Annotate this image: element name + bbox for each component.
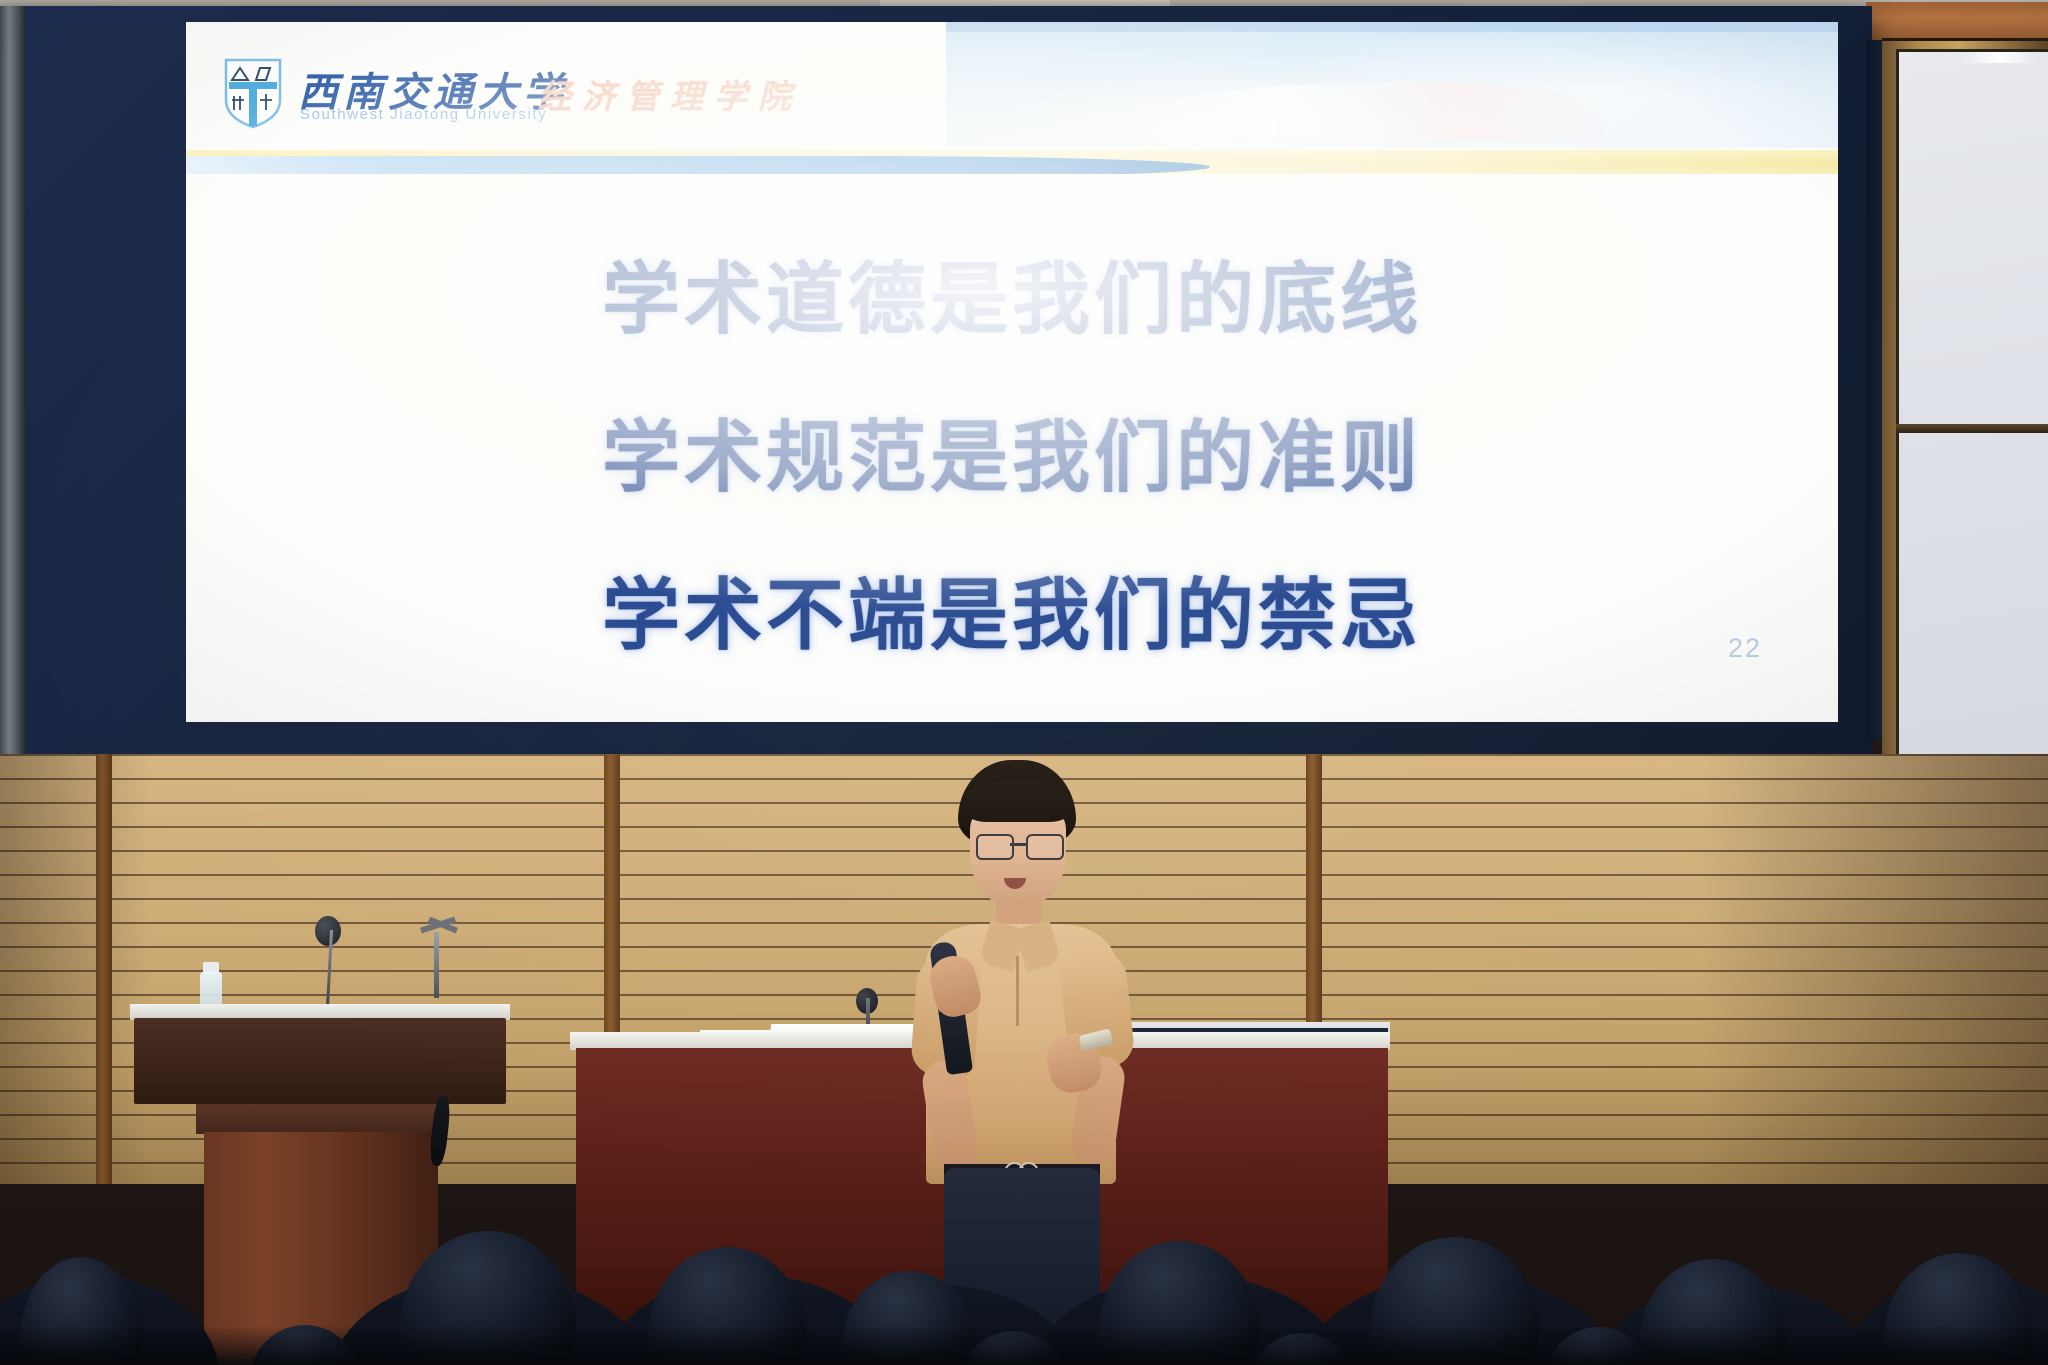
slat-wall-left-shadow (0, 754, 150, 1184)
slat-wall-right-shadow (1700, 754, 2048, 1184)
whiteboard-frame (1882, 38, 2048, 783)
slide-header-band: 西南交通大学 Southwest Jiaotong University 经济管… (186, 22, 1838, 174)
shield-crest-icon (222, 56, 284, 130)
podium-microphone-icon (315, 916, 341, 946)
presenter-shirt-placket (1016, 956, 1019, 1026)
whiteboard-panel-upper (1896, 49, 2048, 777)
slide-line-2: 学术规范是我们的准则 (186, 418, 1838, 500)
presenter (880, 760, 1180, 1365)
bridge-watermark-image (946, 22, 1838, 148)
podium-clamp (434, 932, 439, 998)
school-name-cn: 经济管理学院 (538, 70, 802, 118)
university-name-en: Southwest Jiaotong University (300, 106, 547, 123)
screen-left-rail (0, 6, 26, 754)
glasses-icon-right-lens (1026, 834, 1064, 860)
presenter-trousers (944, 1168, 1100, 1365)
slide-line-3: 学术不端是我们的禁忌 (186, 576, 1838, 658)
slide-line-1: 学术道德是我们的底线 (186, 260, 1838, 342)
podium-column (204, 1132, 438, 1365)
podium-body (134, 1018, 506, 1104)
header-blue-swoosh (186, 156, 1210, 174)
lecture-hall-scene: 西南交通大学 Southwest Jiaotong University 经济管… (0, 0, 2048, 1365)
presenter-fringe (962, 782, 1074, 822)
projected-slide: 西南交通大学 Southwest Jiaotong University 经济管… (186, 22, 1838, 722)
glasses-icon-bridge (1010, 843, 1026, 846)
slide-body: 学术道德是我们的底线 学术规范是我们的准则 学术不端是我们的禁忌 (186, 260, 1838, 658)
whiteboard-divider (1896, 424, 2048, 433)
glasses-icon-left-lens (976, 834, 1014, 860)
podium-neck (196, 1104, 446, 1134)
slide-page-number: 22 (1728, 633, 1762, 664)
whiteboard-light-reflection (1960, 52, 2038, 63)
